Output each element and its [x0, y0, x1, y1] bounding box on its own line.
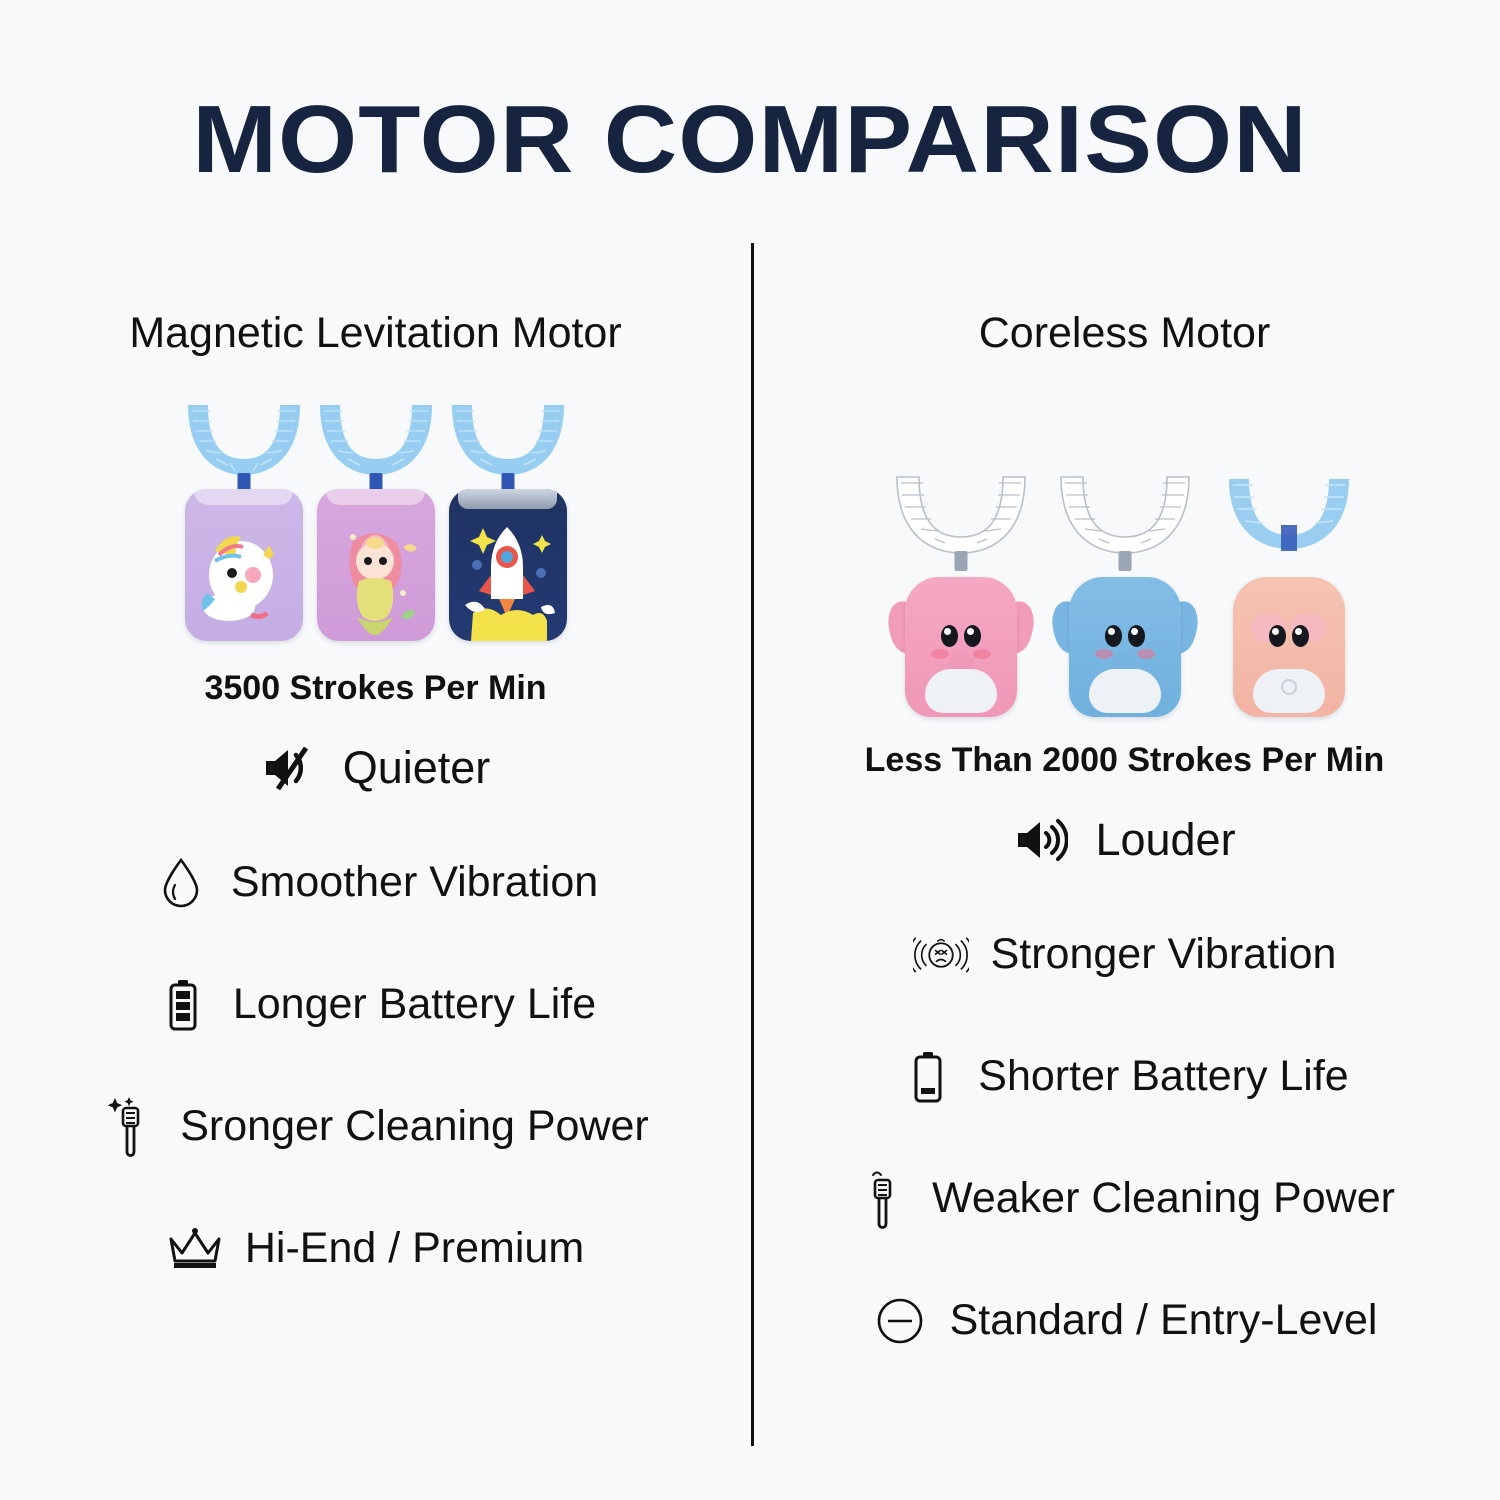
- water-drop-icon: [153, 855, 209, 911]
- animal-body: [1069, 577, 1181, 717]
- speaker-mute-icon: [261, 740, 317, 796]
- u-shaped-brush-head-icon: [312, 401, 440, 479]
- eye-left: [941, 625, 958, 647]
- belly: [925, 669, 997, 713]
- cheek-right: [973, 649, 991, 659]
- handle-cap: [326, 489, 425, 505]
- blue-elephant-toothbrush: [1050, 473, 1200, 723]
- shaking-face-icon: [913, 927, 969, 983]
- rocket-handle: [449, 489, 567, 641]
- cheek-right: [1137, 649, 1155, 659]
- u-shaped-brush-head-icon: [1051, 473, 1199, 557]
- feature-label-standard: Standard / Entry-Level: [950, 1299, 1378, 1342]
- handle-cap: [458, 489, 557, 509]
- unicorn-handle: [185, 489, 303, 641]
- battery-full-icon: [155, 977, 211, 1033]
- brush-stem: [1118, 551, 1131, 571]
- feature-label-quieter: Quieter: [343, 745, 491, 790]
- pink-panda-toothbrush: [1214, 473, 1364, 723]
- unicorn-toothbrush: [180, 401, 308, 651]
- rocket-toothbrush: [444, 401, 572, 651]
- column-header-magnetic-levitation: Magnetic Levitation Motor: [8, 300, 743, 368]
- power-button-icon: [1281, 679, 1297, 695]
- feature-stronger-cleaning: Sronger Cleaning Power: [8, 1066, 743, 1188]
- page-title: MOTOR COMPARISON: [0, 92, 1500, 188]
- blue-elephant-handle: [1055, 573, 1195, 721]
- pink-elephant-handle: [891, 573, 1031, 721]
- belly: [1089, 669, 1161, 713]
- eye-left: [1105, 625, 1122, 647]
- battery-low-icon: [900, 1049, 956, 1105]
- feature-label-louder: Louder: [1095, 817, 1235, 862]
- cheek-left: [1095, 649, 1113, 659]
- feature-stronger-vibration: Stronger Vibration: [757, 894, 1492, 1016]
- pink-panda-handle: [1219, 573, 1359, 721]
- feature-label-stronger-cleaning: Sronger Cleaning Power: [180, 1105, 649, 1148]
- speaker-loud-icon: [1013, 812, 1069, 868]
- toothbrush-sparkle-icon: [102, 1099, 158, 1155]
- eye-right: [1292, 625, 1309, 647]
- feature-label-stronger-vibration: Stronger Vibration: [991, 933, 1337, 976]
- column-magnetic-levitation: Magnetic Levitation Motor: [8, 300, 743, 1310]
- handle-cap: [194, 489, 293, 505]
- u-shaped-brush-head-icon: [887, 473, 1035, 557]
- feature-weaker-cleaning: Weaker Cleaning Power: [757, 1138, 1492, 1260]
- u-shaped-brush-head-icon: [444, 401, 572, 479]
- pink-elephant-toothbrush: [886, 473, 1036, 723]
- feature-longer-battery: Longer Battery Life: [8, 944, 743, 1066]
- u-shaped-brush-head-icon: [180, 401, 308, 479]
- feature-louder: Louder: [757, 786, 1492, 894]
- column-header-coreless: Coreless Motor: [757, 300, 1492, 368]
- feature-shorter-battery: Shorter Battery Life: [757, 1016, 1492, 1138]
- mermaid-handle: [317, 489, 435, 641]
- crown-icon: [167, 1221, 223, 1277]
- column-coreless: Coreless Motor: [757, 300, 1492, 1382]
- feature-label-weaker-cleaning: Weaker Cleaning Power: [932, 1177, 1395, 1220]
- animal-body: [905, 577, 1017, 717]
- eye-left: [1269, 625, 1286, 647]
- minus-circle-icon: [872, 1293, 928, 1349]
- feature-premium: Hi-End / Premium: [8, 1188, 743, 1310]
- feature-label-shorter-battery: Shorter Battery Life: [978, 1055, 1348, 1098]
- feature-quieter: Quieter: [8, 714, 743, 822]
- brush-stem: [954, 551, 967, 571]
- feature-label-premium: Hi-End / Premium: [245, 1227, 584, 1270]
- product-row-magnetic-levitation: [8, 396, 743, 651]
- product-row-coreless: [757, 468, 1492, 723]
- u-shaped-brush-head-icon: [1215, 473, 1363, 557]
- feature-label-longer-battery: Longer Battery Life: [233, 983, 596, 1026]
- eye-right: [964, 625, 981, 647]
- cheek-left: [931, 649, 949, 659]
- mermaid-toothbrush: [312, 401, 440, 651]
- feature-smoother-vibration: Smoother Vibration: [8, 822, 743, 944]
- feature-standard: Standard / Entry-Level: [757, 1260, 1492, 1382]
- eye-right: [1128, 625, 1145, 647]
- strokes-per-min-magnetic: 3500 Strokes Per Min: [8, 669, 743, 708]
- toothbrush-icon: [854, 1171, 910, 1227]
- column-divider: [751, 243, 754, 1446]
- animal-body: [1233, 577, 1345, 717]
- feature-label-smoother-vibration: Smoother Vibration: [231, 861, 598, 904]
- strokes-per-min-coreless: Less Than 2000 Strokes Per Min: [757, 741, 1492, 780]
